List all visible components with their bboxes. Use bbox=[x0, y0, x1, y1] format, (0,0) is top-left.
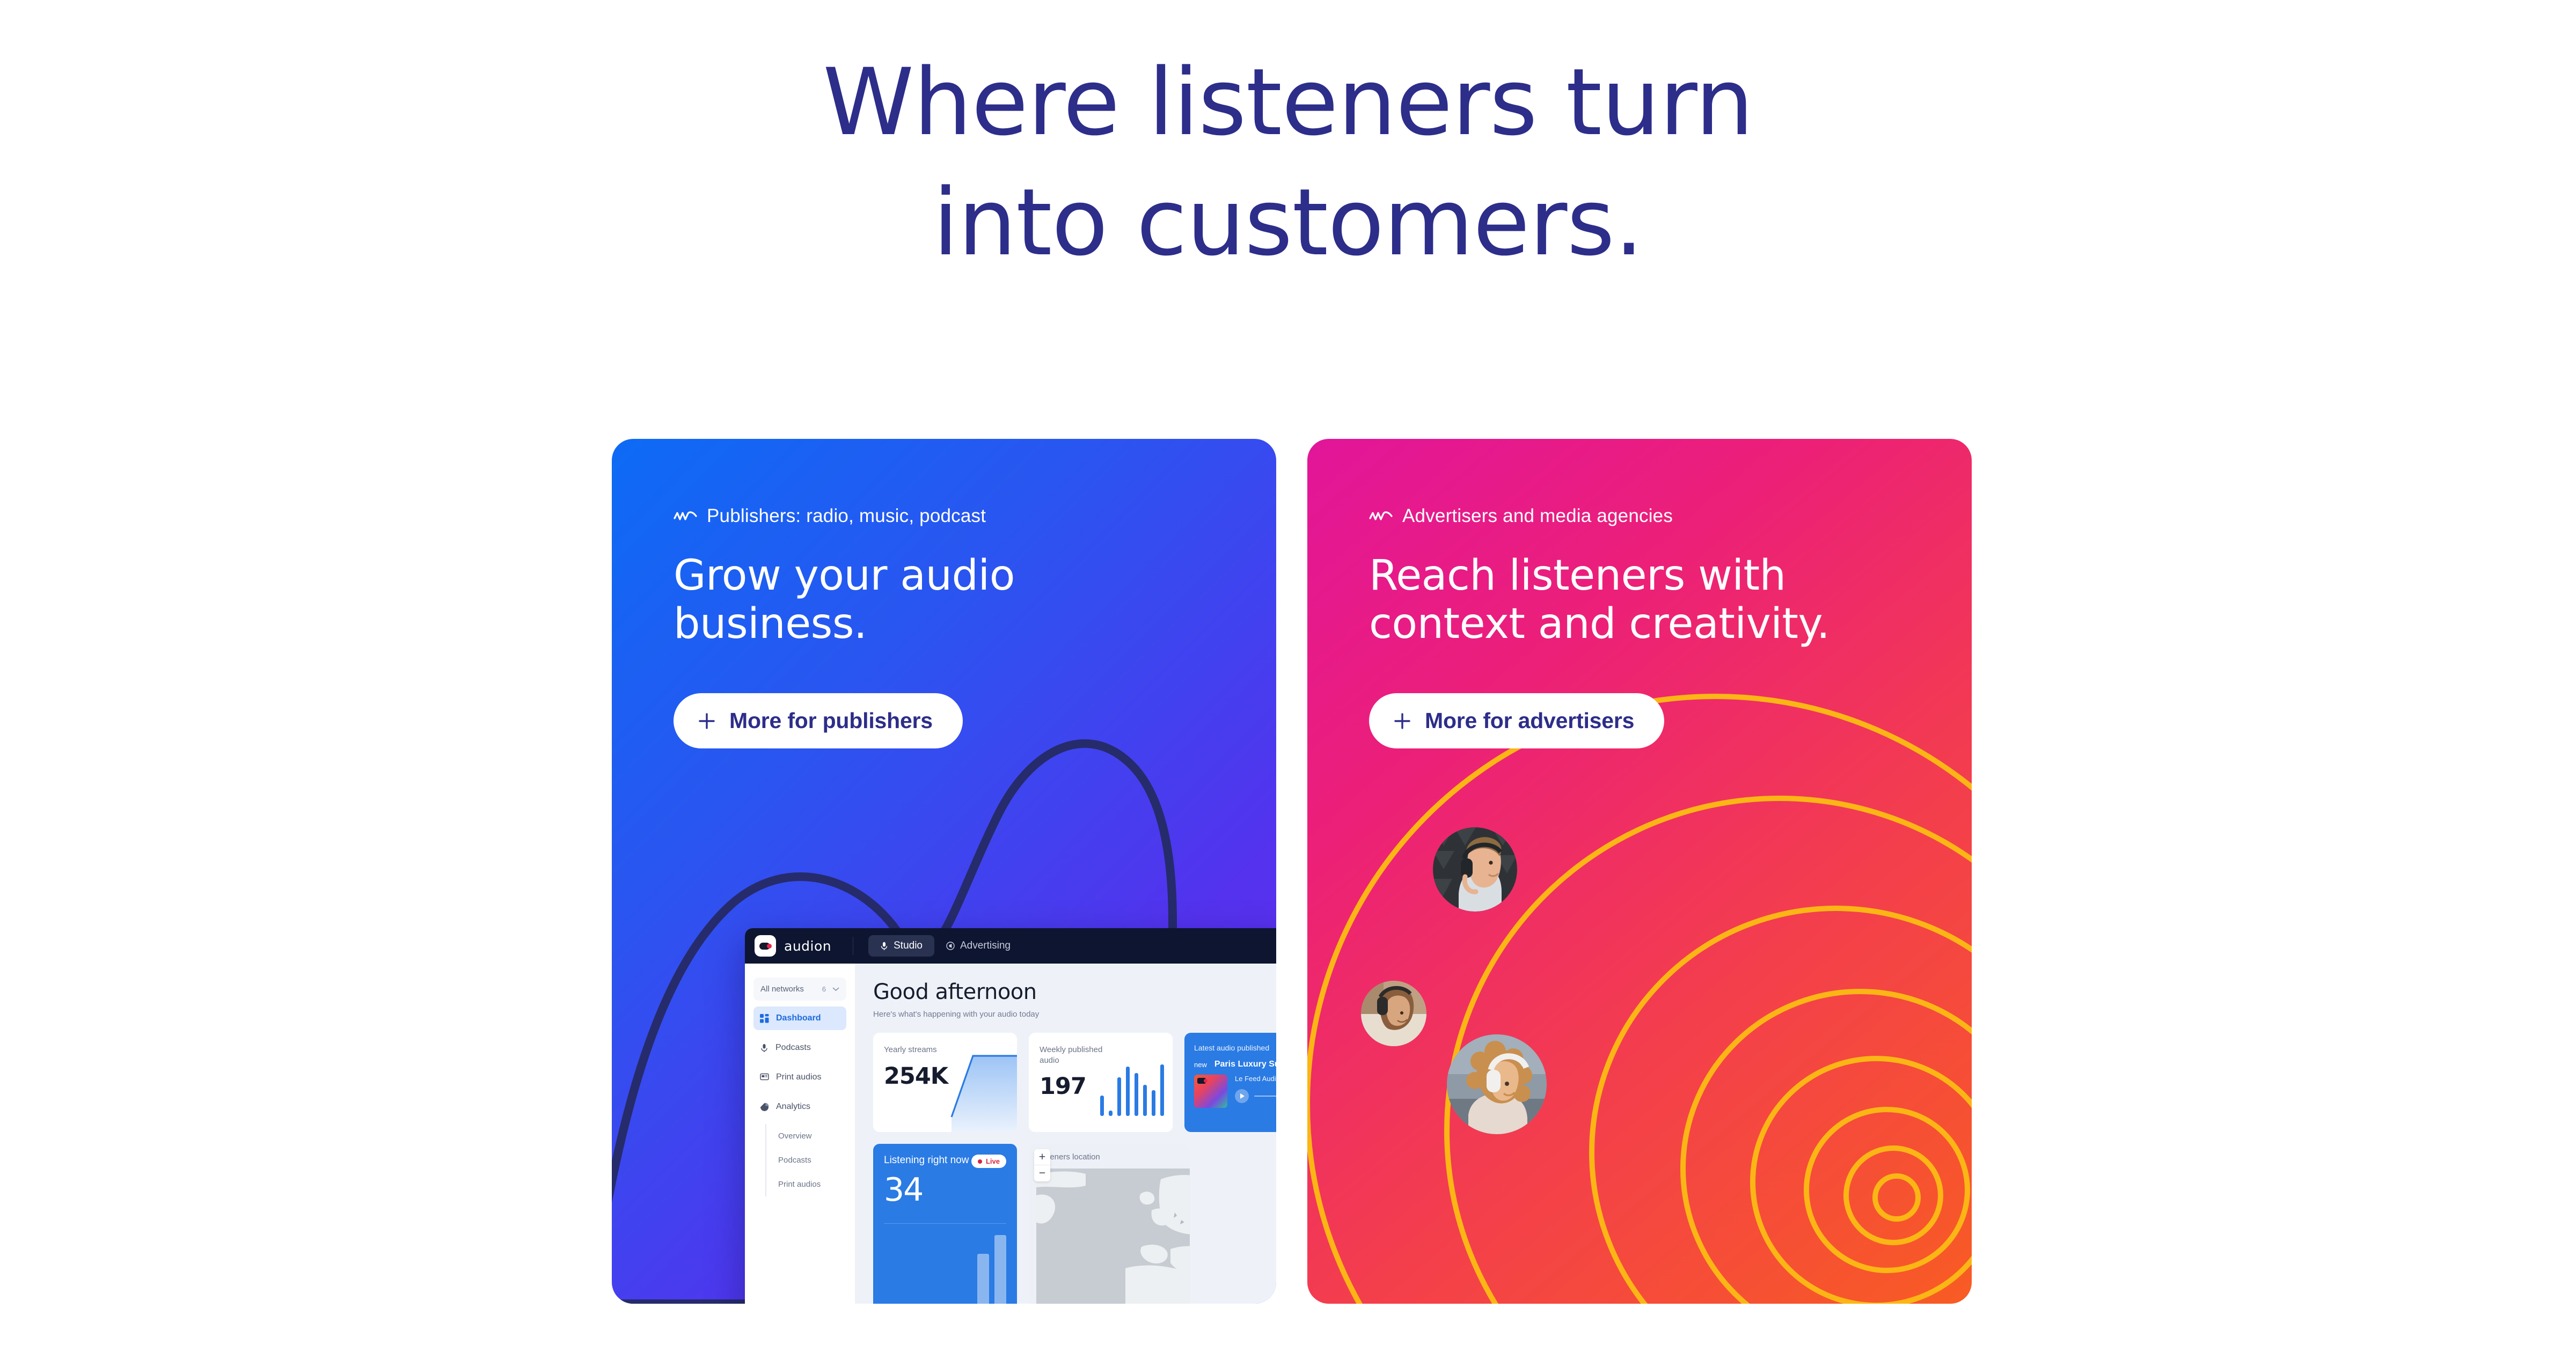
landing-page: Where listeners turn into customers. Pub… bbox=[0, 0, 2576, 1352]
map-zoom-in-button[interactable]: + bbox=[1034, 1149, 1050, 1165]
stat-card-weekly-published: Weekly published audio 197 bbox=[1029, 1033, 1173, 1132]
more-for-publishers-button[interactable]: More for publishers bbox=[674, 693, 963, 748]
network-select[interactable]: All networks 6 bbox=[753, 978, 846, 1001]
card-advertisers[interactable]: Advertisers and media agencies Reach lis… bbox=[1307, 439, 1972, 1304]
sidebar-subitem-podcasts[interactable]: Podcasts bbox=[776, 1148, 846, 1172]
megaphone-icon bbox=[946, 942, 955, 950]
headline-line-2: into customers. bbox=[0, 177, 2576, 269]
microphone-icon bbox=[880, 942, 888, 951]
pie-chart-icon bbox=[760, 1103, 769, 1112]
card-advertisers-title: Reach listeners with context and creativ… bbox=[1369, 552, 1852, 648]
dashboard-stat-row: Yearly streams 254K bbox=[873, 1033, 1276, 1132]
waveform-icon bbox=[1369, 510, 1393, 523]
promo-card-title: Paris Luxury Summit : Jennifer bbox=[1214, 1060, 1276, 1069]
card-publishers-content: Publishers: radio, music, podcast Grow y… bbox=[612, 439, 1276, 748]
world-map-graphic bbox=[1036, 1169, 1190, 1304]
bar-spark-chart bbox=[1100, 1064, 1164, 1116]
card-publishers-title: Grow your audio business. bbox=[674, 552, 1157, 648]
status-badge-live-label: Live bbox=[986, 1157, 1000, 1165]
live-card-divider bbox=[884, 1223, 1006, 1224]
listener-avatar-3 bbox=[1447, 1034, 1547, 1134]
more-for-advertisers-label: More for advertisers bbox=[1425, 708, 1634, 733]
card-publishers-eyebrow-label: Publishers: radio, music, podcast bbox=[707, 505, 986, 527]
headline-line-1: Where listeners turn bbox=[0, 56, 2576, 149]
card-publishers-eyebrow: Publishers: radio, music, podcast bbox=[674, 505, 1276, 527]
nav-tab-advertising[interactable]: Advertising bbox=[934, 935, 1022, 957]
sidebar-item-analytics-label: Analytics bbox=[776, 1102, 810, 1112]
sidebar-item-dashboard-label: Dashboard bbox=[776, 1013, 821, 1023]
listeners-location-label: Listeners location bbox=[1037, 1152, 1190, 1162]
promo-player[interactable] bbox=[1235, 1089, 1276, 1103]
article-icon bbox=[760, 1073, 769, 1082]
live-card-header: Listening right now Live bbox=[884, 1155, 1006, 1168]
nav-tab-studio-label: Studio bbox=[894, 940, 923, 952]
card-publishers-title-line-2: business. bbox=[674, 600, 867, 648]
nav-tab-advertising-label: Advertising bbox=[960, 940, 1011, 952]
page-title: Where listeners turn into customers. bbox=[0, 56, 2576, 269]
stat-card-weekly-published-label: Weekly published audio bbox=[1040, 1045, 1120, 1066]
plus-icon bbox=[1393, 712, 1411, 730]
promo-card-new-badge: new bbox=[1194, 1061, 1207, 1069]
chevron-down-icon bbox=[832, 987, 839, 991]
brand-name: audion bbox=[784, 938, 831, 954]
sidebar-item-podcasts[interactable]: Podcasts bbox=[753, 1036, 846, 1060]
microphone-icon bbox=[760, 1044, 769, 1053]
sidebar-item-print-audios[interactable]: Print audios bbox=[753, 1066, 846, 1089]
listeners-location-card: Listeners location + − bbox=[1029, 1144, 1190, 1304]
live-bar-chart bbox=[977, 1235, 1006, 1304]
network-select-label: All networks bbox=[760, 984, 804, 994]
sidebar-item-dashboard[interactable]: Dashboard bbox=[753, 1006, 846, 1030]
card-advertisers-content: Advertisers and media agencies Reach lis… bbox=[1307, 439, 1972, 748]
sidebar-item-podcasts-label: Podcasts bbox=[775, 1043, 811, 1053]
map-zoom-out-button[interactable]: − bbox=[1034, 1165, 1050, 1181]
sidebar-analytics-submenu: Overview Podcasts Print audios bbox=[765, 1124, 846, 1196]
dashboard-sidebar: All networks 6 bbox=[745, 964, 855, 1304]
more-for-publishers-label: More for publishers bbox=[729, 708, 933, 733]
dashboard-mockup: audion Studio bbox=[745, 928, 1276, 1304]
promo-cover-art bbox=[1194, 1075, 1227, 1108]
live-card-title: Listening right now bbox=[884, 1155, 969, 1166]
dashboard-lower-row: Listening right now Live 34 bbox=[873, 1144, 1276, 1304]
sidebar-subitem-print-audios[interactable]: Print audios bbox=[776, 1172, 846, 1196]
dashboard-body: All networks 6 bbox=[745, 964, 1276, 1304]
sidebar-item-print-audios-label: Print audios bbox=[776, 1072, 822, 1082]
topbar-divider bbox=[853, 937, 853, 955]
dashboard-topbar: audion Studio bbox=[745, 928, 1276, 964]
live-listeners-card: Listening right now Live 34 bbox=[873, 1144, 1017, 1304]
cards-row: Publishers: radio, music, podcast Grow y… bbox=[612, 439, 1986, 1304]
sidebar-item-analytics[interactable]: Analytics bbox=[753, 1095, 846, 1119]
waveform-icon bbox=[674, 510, 697, 523]
grid-icon bbox=[760, 1014, 769, 1023]
card-advertisers-title-line-2: context and creativity. bbox=[1369, 600, 1829, 648]
promo-card-heading-row: new Paris Luxury Summit : Jennifer bbox=[1194, 1060, 1276, 1069]
dashboard-greeting: Good afternoon bbox=[873, 980, 1276, 1004]
map-canvas[interactable] bbox=[1036, 1169, 1190, 1304]
live-dot-icon bbox=[978, 1159, 982, 1164]
audion-logo-icon bbox=[755, 935, 776, 957]
card-publishers[interactable]: Publishers: radio, music, podcast Grow y… bbox=[612, 439, 1276, 1304]
stat-card-yearly-streams: Yearly streams 254K bbox=[873, 1033, 1017, 1132]
promo-card-label: Latest audio published bbox=[1194, 1044, 1276, 1052]
promo-card-latest-audio[interactable]: Latest audio published new Paris Luxury … bbox=[1184, 1033, 1276, 1132]
network-select-count: 6 bbox=[822, 985, 826, 993]
card-advertisers-eyebrow: Advertisers and media agencies bbox=[1369, 505, 1972, 527]
promo-card-subtitle: Le Feed Audio de CB News bbox=[1235, 1075, 1276, 1083]
progress-track[interactable] bbox=[1254, 1096, 1276, 1097]
more-for-advertisers-button[interactable]: More for advertisers bbox=[1369, 693, 1664, 748]
nav-tab-studio[interactable]: Studio bbox=[868, 935, 934, 957]
dashboard-greeting-subtitle: Here's what's happening with your audio … bbox=[873, 1010, 1276, 1019]
card-advertisers-eyebrow-label: Advertisers and media agencies bbox=[1402, 505, 1673, 527]
listener-avatar-2 bbox=[1433, 827, 1517, 912]
sidebar-subitem-overview[interactable]: Overview bbox=[776, 1124, 846, 1148]
map-zoom-controls[interactable]: + − bbox=[1034, 1149, 1050, 1181]
plus-icon bbox=[698, 712, 716, 730]
play-icon[interactable] bbox=[1235, 1089, 1249, 1103]
card-publishers-title-line-1: Grow your audio bbox=[674, 552, 1015, 600]
live-card-value: 34 bbox=[884, 1171, 1006, 1209]
promo-card-media: Le Feed Audio de CB News bbox=[1194, 1075, 1276, 1108]
area-spark-chart bbox=[936, 1052, 1017, 1132]
status-badge-live: Live bbox=[971, 1155, 1006, 1168]
dashboard-main: Good afternoon Here's what's happening w… bbox=[855, 964, 1276, 1304]
listener-avatar-1 bbox=[1361, 981, 1426, 1046]
card-advertisers-title-line-1: Reach listeners with bbox=[1369, 552, 1786, 600]
